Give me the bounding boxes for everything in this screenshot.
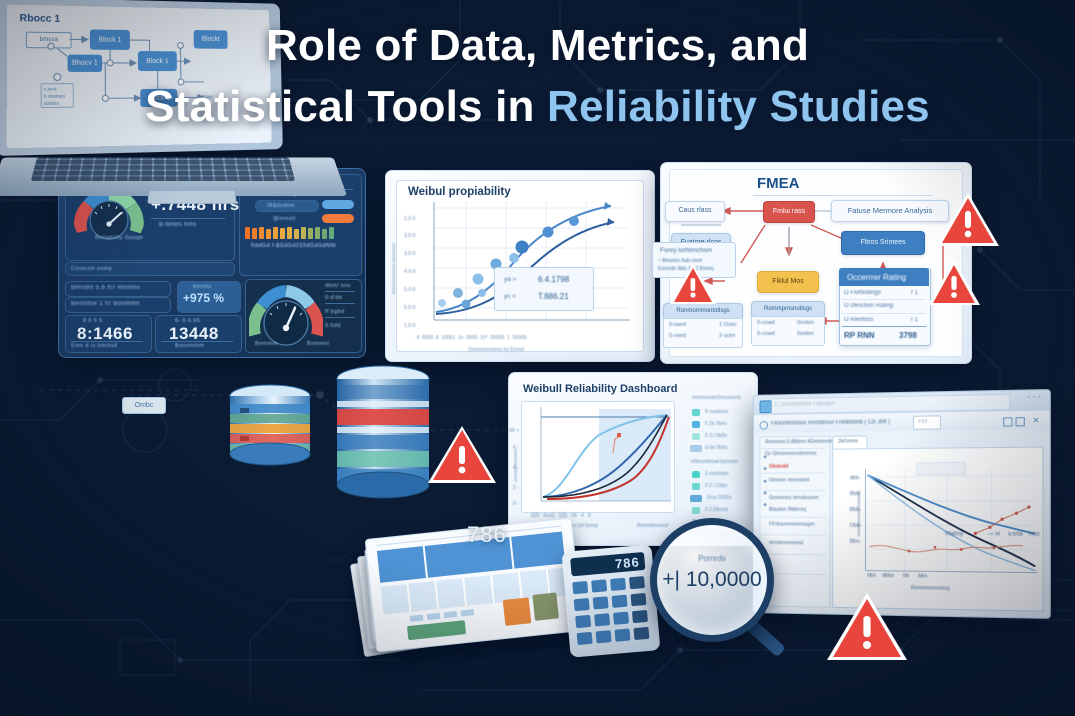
magnifier-label: Pomrds	[650, 554, 774, 563]
fmea-rating-title: Occerrrer Rating	[847, 273, 906, 282]
weibull-y-tick-5: 5.0-0	[404, 305, 415, 311]
fmea-node-failure-mode[interactable]: Fiklul Mos	[757, 271, 819, 293]
sidebar-item-0[interactable]: Gr Ghmnnmnstonmss	[765, 451, 816, 457]
wrd-legend-title-1: Immmnotor0mconomt	[692, 395, 741, 401]
calculator[interactable]: 786	[562, 544, 661, 657]
sw-chart-legend-item-1: Rss	[1029, 532, 1040, 538]
weibull-x-ticks: · 4 5000 8 10001 1x 0000 10* 00000 1 000…	[412, 335, 527, 341]
sw-chart-x-axis-label: Remmnnnrsmsj	[911, 585, 950, 592]
wrd-legend-2-label-0: 3 orozlnpo	[705, 471, 728, 477]
title-line-1: Role of Data, Metrics, and	[0, 14, 1075, 79]
weibull-y-axis-label: lImnmmmnnms bsnsntms	[391, 243, 396, 294]
wrd-legend-2-swatch-0	[692, 471, 700, 478]
weibull-side-box-title: Fonry lorhtmchsm	[660, 247, 712, 254]
metric-tile-2-sub: Bsnommm	[175, 343, 204, 349]
wrd-y-tick-0: 98 +	[509, 428, 519, 434]
fmea-left-row-0-label: 0-owrd	[669, 322, 686, 328]
magnifier-value: +| 10,0000	[650, 568, 774, 592]
window-tab-label: 2kGmns	[838, 438, 858, 444]
kpi-row-b-label: Bellodse 1 f// Boommn	[71, 301, 140, 307]
fmea-right-row-0-value: 0onbm	[797, 320, 814, 326]
fmea-left-row-1-label: 0-owrd	[669, 333, 686, 339]
secondary-gauge-right-label: Bsmmnl	[307, 341, 329, 347]
wrd-legend-2-label-1: 5 2.l Ckbs	[705, 483, 727, 489]
percent-label: bmmts	[193, 284, 212, 290]
weibull-y-tick-1: 3.0-0	[404, 233, 415, 239]
fmea-rating-row-0-label: O Flortlotlings	[844, 290, 881, 296]
mtbf-sub: B-bmbs hms	[159, 222, 197, 228]
fmea-node-failure-class[interactable]: Fmlui rass	[763, 201, 815, 223]
secondary-gauge-tick-1: 0:d'dd	[325, 295, 342, 301]
title-line-2: Statistical Tools in Reliability Studies	[0, 75, 1075, 140]
form-submit-button[interactable]	[407, 620, 466, 640]
reliability-software-window[interactable]: C Snmmrbhlm Flbnsbm ▫▫▫ Fllonnbstonoc Rn…	[753, 389, 1051, 619]
wrd-legend-1-swatch-0	[692, 409, 700, 416]
calculator-keypad[interactable]	[572, 576, 651, 648]
fmea-right-row-1-value: 0onbm	[797, 331, 814, 337]
wrd-y-axis-label: Ummmmnnmms	[513, 449, 518, 482]
sw-chart-legend-item-0: Esrta	[1008, 532, 1022, 538]
toolbar-select-text: r | r	[919, 419, 927, 425]
weibull-y-tick-0: 2.0-0	[404, 216, 415, 222]
window-minimize-icon[interactable]	[1003, 417, 1012, 426]
sidebar-item-6[interactable]: rlmsbmnmonsl	[769, 540, 803, 546]
wrd-legend-2-swatch-3	[692, 507, 700, 514]
wrd-y-tick-4: 0 -	[513, 501, 519, 507]
wrd-legend-2-label-2: 0rcs 0200s	[707, 495, 731, 501]
toolbar-menu-icon[interactable]	[760, 421, 769, 430]
warning-triangle-weibull[interactable]	[425, 422, 499, 488]
fmea-node-causes[interactable]: Caus rlass	[665, 201, 725, 222]
wrd-legend-title-2: +Rlnomtnowl bsnnmn	[690, 459, 738, 465]
gauge-left-label: Reliability Gauge	[95, 235, 143, 241]
form-olive-button[interactable]	[532, 592, 559, 620]
weibull-y-tick-4: 5.0-0	[404, 287, 415, 293]
poster-title: Role of Data, Metrics, and Statistical T…	[0, 14, 1075, 139]
percent-value: +975 %	[183, 291, 224, 305]
sw-chart-y-ticks: dbb-Bbb-Bbb-Obb-Bbn-	[850, 471, 862, 550]
warning-triangle-bottom-right[interactable]	[824, 590, 910, 666]
distribution-pill-orange	[322, 214, 354, 223]
laptop-keyboard[interactable]	[31, 158, 295, 181]
warning-triangle-fmea-right[interactable]	[926, 258, 982, 308]
weibull-annotation-1-value: 6.4.1798	[538, 275, 569, 284]
sw-chart-legend-dash: — R	[988, 531, 1000, 537]
warning-triangle-upper-right[interactable]	[934, 190, 1002, 250]
window-close-icon[interactable]: ✕	[1032, 416, 1039, 425]
wrd-title: Weibull Reliability Dashboard	[523, 383, 677, 395]
database-cylinder-large	[328, 363, 438, 503]
secondary-gauge-tick-0: dbm/ nns	[325, 283, 351, 289]
weibull-y-tick-3: 4.0-0	[404, 269, 415, 275]
wrd-legend-2-swatch-2	[690, 495, 702, 502]
poster-canvas: Role of Data, Metrics, and Statistical T…	[0, 0, 1075, 716]
sidebar-item-2[interactable]: Omnon rlrnestonl	[769, 477, 809, 483]
title-line-2-plain: Statistical Tools in	[145, 82, 547, 131]
sidebar-item-5[interactable]: FFrbsnmmmnnsgm	[769, 522, 815, 528]
fmea-rating-row-0-value: r 1	[911, 290, 918, 296]
secondary-gauge-icon	[249, 281, 323, 349]
sidebar-title: Rmmnnm 6 Afbtmn 4Gmmmnms	[765, 439, 835, 446]
wrd-legend-1-label-1: 5 2k 0bno	[705, 421, 727, 427]
wrd-legend-1-label-3: 0-0n 0b0o	[705, 445, 728, 451]
distribution-row-a-label: IB$dsdnm	[267, 203, 295, 209]
wrd-legend-2-swatch-1	[692, 483, 700, 490]
tag-left: Ombc	[122, 397, 166, 414]
weibull-y-tick-2: 3.0-0	[404, 251, 415, 257]
weibull-y-tick-6: 1.0-0	[404, 323, 415, 329]
sw-chart-legend-title: Rlatlsy	[945, 531, 963, 537]
sidebar-item-4[interactable]: Blasbm Rbkrnnj	[769, 507, 806, 513]
fmea-rating-row-2-label: O Rlextocs	[844, 317, 873, 323]
fmea-node-failure-services[interactable]: Fltros Srimees	[841, 231, 925, 255]
distribution-pill-blue	[322, 200, 354, 209]
window-controls[interactable]: ▫▫▫	[1028, 394, 1044, 400]
fmea-rating-row-1-label: O cfesction Rating:	[844, 303, 895, 309]
distribution-row-b-label: @mmstl	[273, 216, 296, 222]
form-small-buttons[interactable]	[410, 609, 474, 622]
weibull-plot-svg	[396, 180, 644, 352]
wrd-legend-1-swatch-2	[692, 433, 700, 440]
fmea-node-failure-mode-analysis[interactable]: Fatuse Mermore Analysis	[831, 200, 949, 222]
fmea-right-row-1-label: 0-cowd	[757, 331, 775, 337]
wrd-legend-1-label-0: 5 ouoknos	[705, 409, 728, 415]
wrd-legend-1-swatch-1	[692, 421, 700, 428]
wrd-legend-1-swatch-3	[690, 445, 702, 452]
secondary-gauge-left-label: Bemmm	[255, 341, 277, 347]
calculator-display: 786	[570, 552, 645, 576]
weibull-annotation-box	[494, 267, 594, 311]
wrd-legend-1-label-2: 5 2.l 0b0o	[705, 433, 727, 439]
sidebar-item-1[interactable]: Olsbnbl	[769, 464, 788, 470]
wrd-y-tick-3: 2 -	[513, 485, 519, 491]
sidebar-item-3[interactable]: Gnmnnnc bmcknsnm	[769, 495, 819, 501]
distribution-bar-strip	[245, 226, 355, 239]
warning-triangle-fmea-left[interactable]	[668, 262, 718, 307]
fmea-rpn-value: 3798	[899, 331, 917, 340]
window-maximize-icon[interactable]	[1016, 417, 1025, 426]
secondary-gauge-tick-3: 0.5dd	[325, 323, 341, 329]
distribution-strip-label: fIddGd f-$GdGd233dGdGdNNl	[251, 243, 336, 249]
secondary-gauge-tick-2: ff bgbd	[325, 309, 345, 315]
title-accent: Reliability Studies	[547, 82, 930, 131]
wrd-plot-svg	[521, 401, 673, 511]
search-placeholder: Ceneroti onmp	[71, 266, 112, 272]
laptop-trackpad[interactable]	[147, 190, 236, 204]
fmea-rating-row-2-value: r 1	[911, 317, 918, 323]
kpi-row-a-label: Bmsdnt 5.6 ff// Rlomns	[71, 285, 140, 291]
metric-tile-1-sub: Emn d is bdcksd	[71, 343, 117, 349]
fmea-rpn-label: RP RNN	[844, 331, 875, 340]
fmea-left-row-0-value: 1 Ockn	[719, 322, 736, 328]
weibull-x-axis-label: Ommmenmens bs Emnsl	[468, 347, 524, 353]
magnifier[interactable]: Pomrds +| 10,0000	[650, 518, 774, 642]
sw-chart-x-ticks: bbs dbbs bb bbs	[867, 573, 927, 580]
weibull-probability-panel[interactable]: Weibul propiability	[385, 170, 655, 362]
fmea-right-row-0-label: 0-cowd	[757, 320, 775, 326]
sidebar-bullet-icons: ◆◆◆◆◆	[763, 451, 767, 511]
floating-number: 786	[467, 522, 507, 548]
weibull-annotation-2-value: T.886.21	[538, 292, 569, 301]
weibull-annotation-1-key: ya =	[504, 276, 516, 283]
fmea-left-row-1-value: 3 uckn	[719, 333, 735, 339]
wrd-legend-2-label-3: 5 2.l0knsd	[705, 507, 728, 513]
database-cylinder-small	[222, 378, 318, 474]
weibull-annotation-2-key: yc =	[504, 293, 516, 300]
form-orange-button[interactable]	[503, 597, 532, 626]
